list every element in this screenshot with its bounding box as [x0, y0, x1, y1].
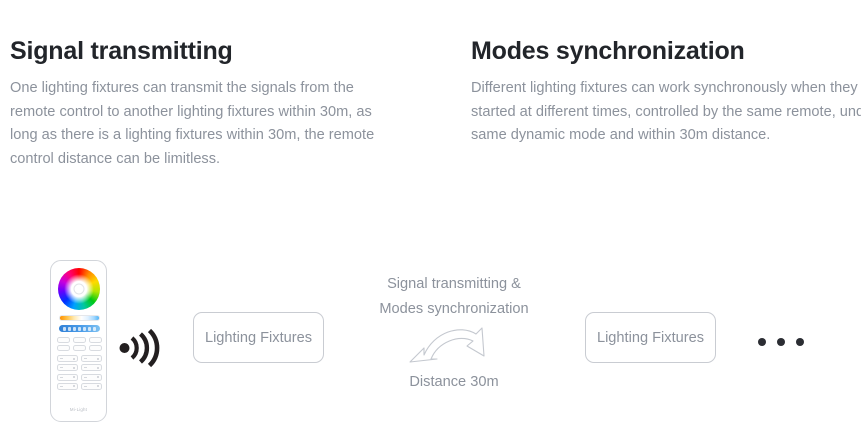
remote-key: [81, 383, 102, 390]
keypad-row: [57, 383, 102, 390]
remote-key: [57, 355, 78, 362]
keypad-row: [57, 364, 102, 371]
keypad-row: [57, 355, 102, 362]
remote-key: [73, 345, 86, 351]
remote-key: [81, 374, 102, 381]
remote-key: [81, 355, 102, 362]
feature-columns: Signal transmitting One lighting fixture…: [0, 0, 861, 172]
page-title-signal-transmitting: Signal transmitting: [10, 0, 400, 66]
remote-control-device: Mi-Light: [50, 260, 107, 422]
keypad-row: [57, 374, 102, 381]
remote-key: [57, 374, 78, 381]
ellipsis-indicator: [758, 338, 804, 346]
remote-key: [89, 345, 102, 351]
center-caption: Signal transmitting & Modes synchronizat…: [354, 272, 554, 322]
description-signal-transmitting: One lighting fixtures can transmit the s…: [10, 66, 400, 172]
remote-key: [89, 337, 102, 343]
double-headed-curved-arrow-icon: [404, 322, 504, 370]
distance-label: Distance 30m: [354, 374, 554, 390]
feature-column-signal-transmitting: Signal transmitting One lighting fixture…: [0, 0, 400, 172]
remote-key: [57, 345, 70, 351]
system-diagram: Mi-Light Lighting Fixtures Signal transm…: [0, 250, 861, 442]
feature-column-modes-synchronization: Modes synchronization Different lighting…: [436, 0, 861, 172]
page-title-modes-synchronization: Modes synchronization: [471, 0, 861, 66]
remote-key: [73, 337, 86, 343]
remote-key: [81, 364, 102, 371]
keypad-row: [57, 337, 102, 343]
color-temperature-slider-icon: [59, 315, 100, 321]
center-caption-line-2: Modes synchronization: [354, 297, 554, 322]
color-wheel-icon: [58, 268, 100, 310]
zone-selection-bar-icon: [59, 325, 100, 332]
ellipsis-dot: [796, 338, 804, 346]
remote-key: [57, 364, 78, 371]
remote-brand-logo: Mi-Light: [51, 407, 106, 412]
ellipsis-dot: [777, 338, 785, 346]
wifi-waves-icon: [118, 328, 162, 368]
remote-key: [57, 337, 70, 343]
keypad-row: [57, 345, 102, 351]
ellipsis-dot: [758, 338, 766, 346]
remote-keypad: [57, 337, 102, 392]
lighting-fixture-box-2[interactable]: Lighting Fixtures: [585, 312, 716, 363]
lighting-fixture-box-1[interactable]: Lighting Fixtures: [193, 312, 324, 363]
remote-key: [57, 383, 78, 390]
description-modes-synchronization: Different lighting fixtures can work syn…: [471, 66, 861, 148]
center-caption-line-1: Signal transmitting &: [354, 272, 554, 297]
